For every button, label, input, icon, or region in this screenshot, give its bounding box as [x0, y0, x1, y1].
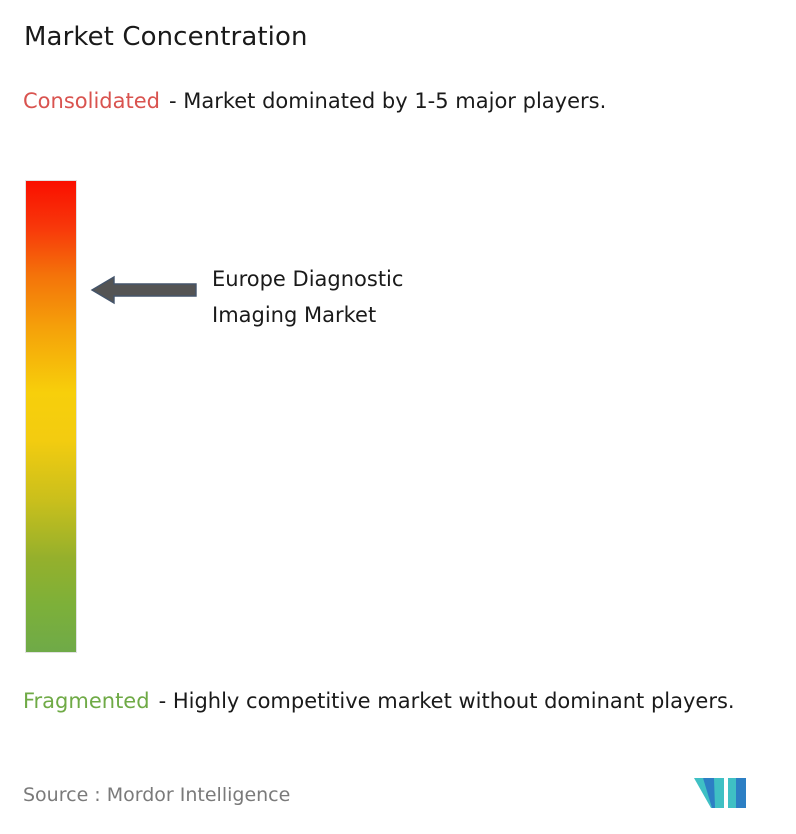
left-arrow-icon: [88, 272, 200, 308]
legend-description-fragmented: - Highly competitive market without domi…: [159, 689, 735, 713]
legend-description-consolidated: - Market dominated by 1-5 major players.: [169, 89, 606, 113]
legend-fragmented: Fragmented- Highly competitive market wi…: [23, 686, 783, 717]
market-pointer-label: Europe Diagnostic Imaging Market: [212, 261, 403, 333]
legend-term-fragmented: Fragmented: [23, 689, 150, 713]
legend-consolidated: Consolidated- Market dominated by 1-5 ma…: [23, 86, 775, 117]
market-concentration-chart: Market Concentration Consolidated- Marke…: [0, 0, 796, 834]
market-pointer: [88, 272, 200, 308]
page-title: Market Concentration: [24, 20, 308, 54]
mordor-intelligence-logo: [694, 772, 758, 814]
mordor-intelligence-logo-icon: [694, 772, 758, 814]
legend-term-consolidated: Consolidated: [23, 89, 160, 113]
market-concentration-scale-bar: [26, 181, 76, 652]
source-attribution: Source : Mordor Intelligence: [23, 782, 290, 808]
